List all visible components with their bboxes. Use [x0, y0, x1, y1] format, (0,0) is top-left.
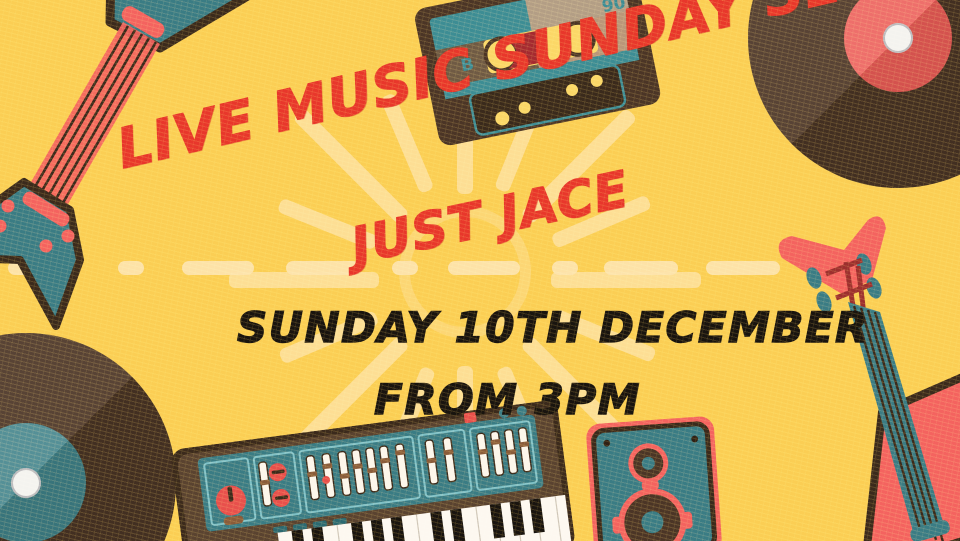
event-date: SUNDAY 10TH DECEMBER	[237, 303, 869, 352]
headline-line-1: LIVE MUSIC SUNDAY SESSION	[111, 0, 960, 181]
poster-text: LIVE MUSIC SUNDAY SESSION JUST JACE SUND…	[0, 0, 960, 541]
headline-line-2: JUST JACE	[346, 160, 634, 275]
event-poster: B 90	[0, 0, 960, 541]
event-time: FROM 3PM	[374, 375, 641, 424]
